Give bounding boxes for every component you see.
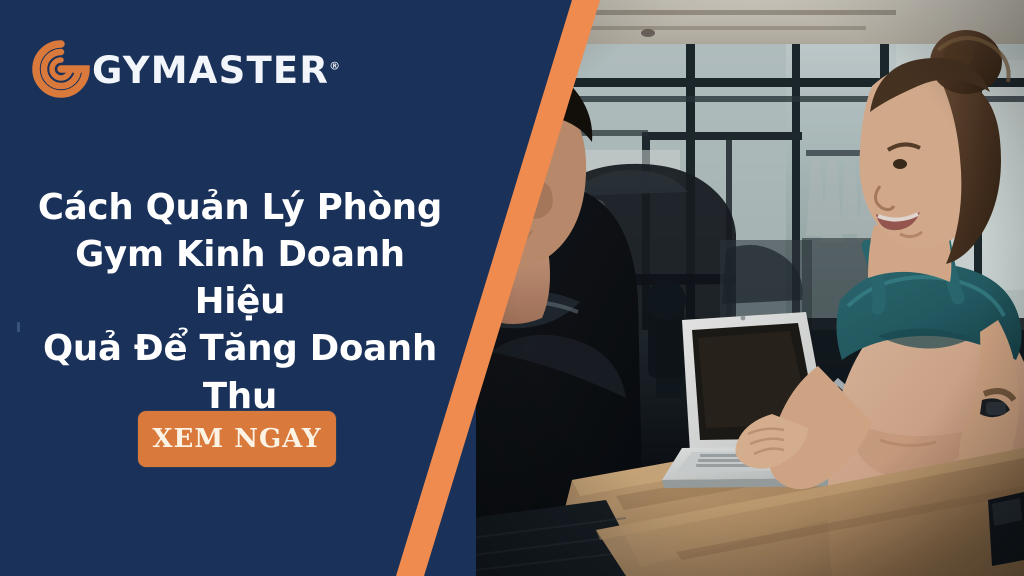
photo-illustration <box>476 0 1024 576</box>
promo-banner: GYMASTER® Cách Quản Lý Phòng Gym Kinh Do… <box>0 0 1024 576</box>
cta-button-label: XEM NGAY <box>152 426 321 452</box>
logo-wordmark-text: GYMASTER <box>92 49 329 92</box>
left-content-panel: GYMASTER® Cách Quản Lý Phòng Gym Kinh Do… <box>0 0 500 576</box>
gym-reception-photo <box>476 0 1024 576</box>
gymaster-spiral-g-icon <box>28 38 94 100</box>
headline-title: Cách Quản Lý Phòng Gym Kinh Doanh Hiệu Q… <box>30 184 450 420</box>
registered-trademark-symbol: ® <box>329 60 340 73</box>
xem-ngay-cta-button[interactable]: XEM NGAY <box>137 410 337 468</box>
brand-logo[interactable]: GYMASTER® <box>28 38 340 100</box>
logo-wordmark: GYMASTER® <box>92 49 340 89</box>
decorative-speck <box>17 322 20 332</box>
